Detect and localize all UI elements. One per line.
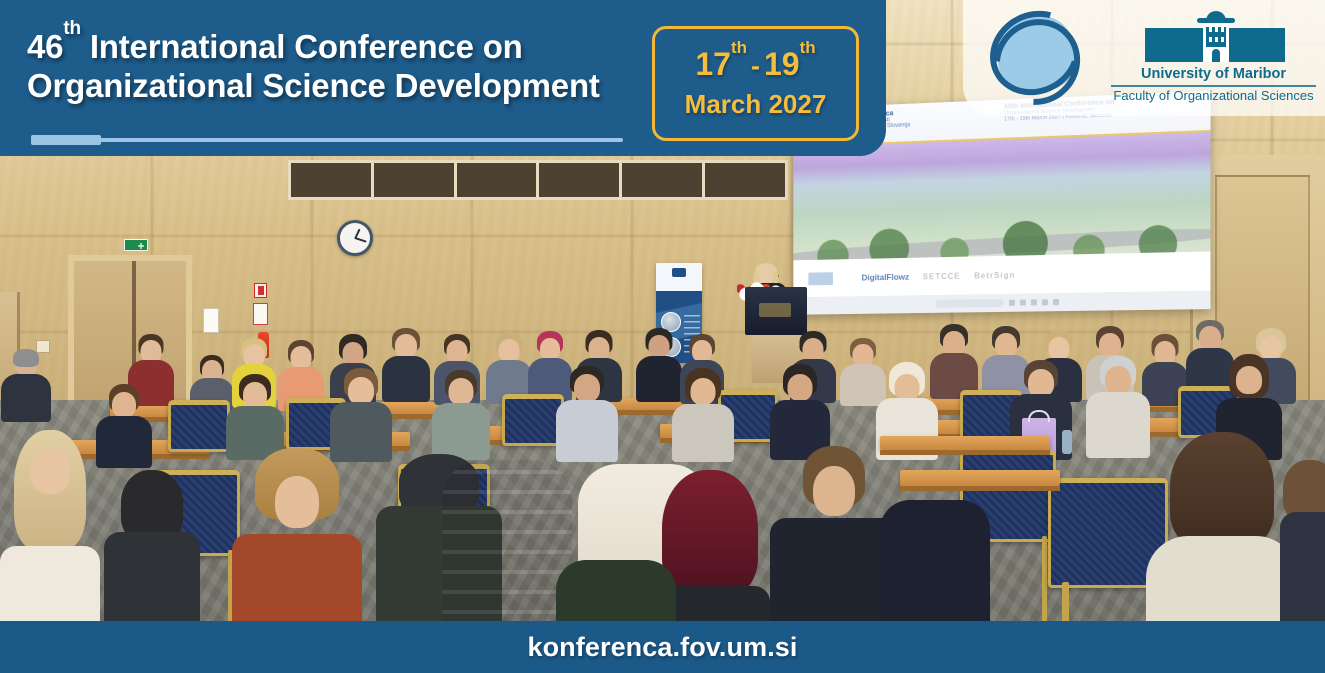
toolbar-icon-5 [1053, 299, 1059, 305]
person-head [1155, 341, 1176, 364]
person-head [30, 448, 70, 494]
upper-window-strip [288, 160, 788, 200]
fov-logo-icon [987, 10, 1087, 106]
footer-bar: konferenca.fov.um.si [0, 621, 1325, 673]
person-torso [96, 416, 152, 468]
person-head [395, 334, 417, 358]
university-name: University of Maribor [1111, 66, 1316, 82]
person-head [348, 377, 374, 405]
person-hair [662, 470, 758, 596]
conference-website-url[interactable]: konferenca.fov.um.si [527, 632, 797, 663]
person-head [943, 331, 965, 355]
person-head [895, 374, 920, 401]
exit-sign-icon [124, 239, 148, 251]
sponsor-digitalflowz: DigitalFlowz [861, 272, 909, 283]
person-head [788, 374, 813, 401]
person-head [1236, 366, 1262, 394]
sponsor-logo-box [808, 272, 833, 285]
person-torso [1086, 392, 1150, 458]
audience-person [880, 470, 990, 638]
person-hair [1283, 460, 1325, 520]
toolbar-icon-2 [1019, 300, 1025, 306]
person-head [853, 344, 874, 366]
wall-clock-icon [337, 220, 373, 256]
gift-bag-handle [1028, 410, 1050, 422]
um-building-door [1212, 49, 1220, 62]
sponsor-betrsign: BetrSign [974, 270, 1015, 280]
toolbar-search-pill [934, 299, 1003, 308]
conference-title: 46th International Conference on Organiz… [27, 28, 627, 106]
audience-person [442, 440, 572, 630]
person-head [813, 466, 855, 516]
person-head [112, 392, 136, 418]
audience-person [486, 334, 532, 400]
person-head [692, 340, 712, 362]
conference-date-box: 17th-19th March 2027 [652, 26, 859, 141]
fov-logo-ring-inner [976, 1, 1098, 122]
person-hair [13, 349, 39, 367]
person-head [1199, 326, 1221, 350]
person-torso [1280, 512, 1325, 632]
audience-person [1086, 358, 1150, 458]
title-line-1: 46th International Conference on [27, 28, 627, 67]
audience-person [96, 386, 152, 466]
person-head [447, 340, 468, 363]
faculty-name: Faculty of Organizational Sciences [1111, 88, 1316, 103]
person-head [275, 476, 319, 528]
toolbar-icon-4 [1041, 299, 1047, 305]
audience-person [232, 448, 362, 638]
toolbar-icon-3 [1030, 299, 1036, 305]
person-torso [880, 500, 990, 638]
date-separator: - [747, 51, 764, 81]
slide-sponsor-strip: DigitalFlowz SETCCE BetrSign [793, 251, 1210, 297]
person-hair [121, 470, 183, 540]
person-head [243, 382, 267, 408]
water-bottle [1062, 430, 1072, 454]
person-head [1105, 366, 1131, 394]
audience-person [278, 342, 324, 406]
toolbar-icon-1 [1008, 300, 1014, 306]
university-of-maribor-logo: University of Maribor Faculty of Organiz… [1111, 6, 1316, 106]
chair [168, 400, 230, 452]
person-head [649, 335, 670, 358]
edition-number: 46 [27, 28, 63, 65]
date-day-to: 19 [764, 46, 800, 82]
date-day-from-ordinal: th [731, 38, 747, 57]
person-head [449, 378, 474, 405]
audience-person [1146, 432, 1298, 642]
logo-divider [1111, 85, 1316, 87]
um-building-dome [1206, 11, 1226, 23]
logo-panel: University of Maribor Faculty of Organiz… [963, 0, 1325, 116]
audience-person [1280, 460, 1325, 630]
person-head [291, 346, 312, 369]
wall-notice-paper [203, 308, 219, 333]
person-hair [1170, 432, 1274, 548]
person-head [574, 374, 600, 402]
date-day-from: 17 [695, 46, 731, 82]
audience-person [0, 430, 100, 630]
sponsor-text-small [846, 274, 848, 281]
person-head [589, 337, 610, 360]
um-building-icon [1197, 11, 1235, 62]
rollup-crest-icon [672, 268, 686, 277]
person-torso [770, 518, 898, 638]
person-head [1028, 369, 1054, 397]
person-head [995, 333, 1017, 357]
person-head [343, 342, 364, 365]
audience-person [0, 352, 52, 422]
chair [502, 394, 564, 446]
date-days: 17th-19th [695, 48, 815, 80]
person-torso [442, 460, 572, 630]
person-head [691, 378, 716, 405]
person-head [1049, 337, 1070, 360]
date-month-year: March 2027 [685, 89, 827, 120]
person-head [540, 338, 560, 360]
um-building-windows [1206, 27, 1226, 47]
conference-banner: 46. mednarodna konferenca o razvoju orga… [0, 0, 1325, 673]
sponsor-setcce: SETCCE [923, 271, 961, 281]
title-line-1-rest: International Conference on [81, 28, 523, 65]
desk [880, 436, 1050, 450]
person-torso [0, 546, 100, 632]
title-line-2: Organizational Science Development [27, 67, 627, 106]
person-head [803, 338, 824, 361]
title-underline-rule [31, 138, 623, 142]
person-head [499, 339, 520, 362]
chair-leg [1062, 582, 1069, 622]
wall-notice-red [253, 303, 268, 325]
podium [745, 287, 807, 335]
chair-leg [1042, 536, 1047, 622]
person-head [1099, 333, 1121, 357]
person-torso [1, 374, 51, 422]
audience-person [104, 470, 200, 640]
fire-alarm-sign-icon [254, 283, 267, 298]
audience-person [770, 446, 898, 638]
date-day-to-ordinal: th [800, 38, 816, 57]
edition-ordinal: th [63, 18, 81, 39]
